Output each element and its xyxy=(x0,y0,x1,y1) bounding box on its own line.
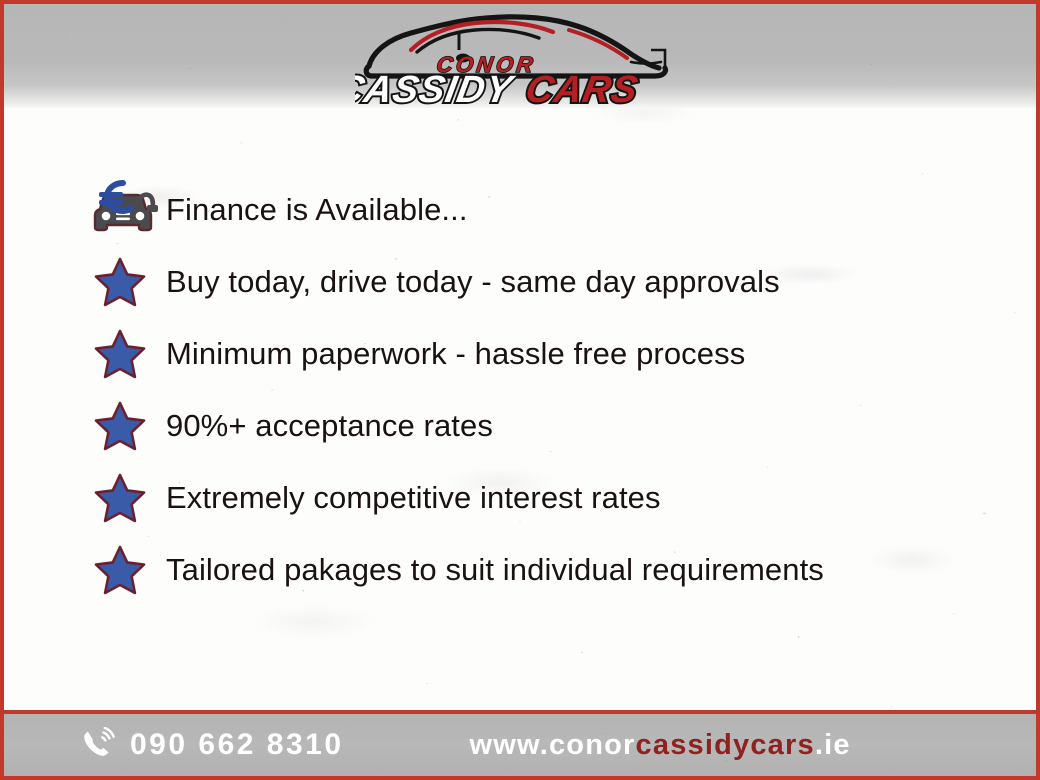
website-prefix: www.conor xyxy=(470,729,636,761)
list-item-label: Buy today, drive today - same day approv… xyxy=(166,264,780,300)
star-icon xyxy=(90,256,166,308)
phone-number[interactable]: 090 662 8310 xyxy=(130,728,344,762)
website-brand: cassidycars xyxy=(636,729,815,761)
list-item: 90%+ acceptance rates xyxy=(4,390,1036,462)
list-item-label: Tailored pakages to suit individual requ… xyxy=(166,552,824,588)
list-item-label: Finance is Available... xyxy=(166,192,468,228)
star-icon xyxy=(90,328,166,380)
logo-cars-text: CARS xyxy=(522,68,641,106)
header-band: CONOR CASSIDY CARS xyxy=(4,4,1036,108)
logo-cassidy-text: CASSIDY xyxy=(355,68,518,106)
website-url[interactable]: www.conorcassidycars.ie xyxy=(470,729,851,762)
benefits-list: Finance is Available... Buy today, drive… xyxy=(4,174,1036,606)
star-icon xyxy=(90,472,166,524)
promo-poster: CONOR CASSIDY CARS xyxy=(0,0,1040,780)
list-item-label: Extremely competitive interest rates xyxy=(166,480,661,516)
brand-logo[interactable]: CONOR CASSIDY CARS xyxy=(355,6,685,106)
list-item: Tailored pakages to suit individual requ… xyxy=(4,534,1036,606)
list-item-label: 90%+ acceptance rates xyxy=(166,408,493,444)
footer-band: 090 662 8310 www.conorcassidycars.ie xyxy=(4,710,1036,776)
website-suffix: .ie xyxy=(815,729,851,761)
list-item: Extremely competitive interest rates xyxy=(4,462,1036,534)
list-item: Minimum paperwork - hassle free process xyxy=(4,318,1036,390)
list-item: Buy today, drive today - same day approv… xyxy=(4,246,1036,318)
car-euro-finance-icon xyxy=(90,179,166,241)
phone-ringing-icon xyxy=(80,727,116,763)
star-icon xyxy=(90,544,166,596)
phone-contact[interactable]: 090 662 8310 xyxy=(80,727,344,763)
star-icon xyxy=(90,400,166,452)
list-item-label: Minimum paperwork - hassle free process xyxy=(166,336,745,372)
list-item: Finance is Available... xyxy=(4,174,1036,246)
